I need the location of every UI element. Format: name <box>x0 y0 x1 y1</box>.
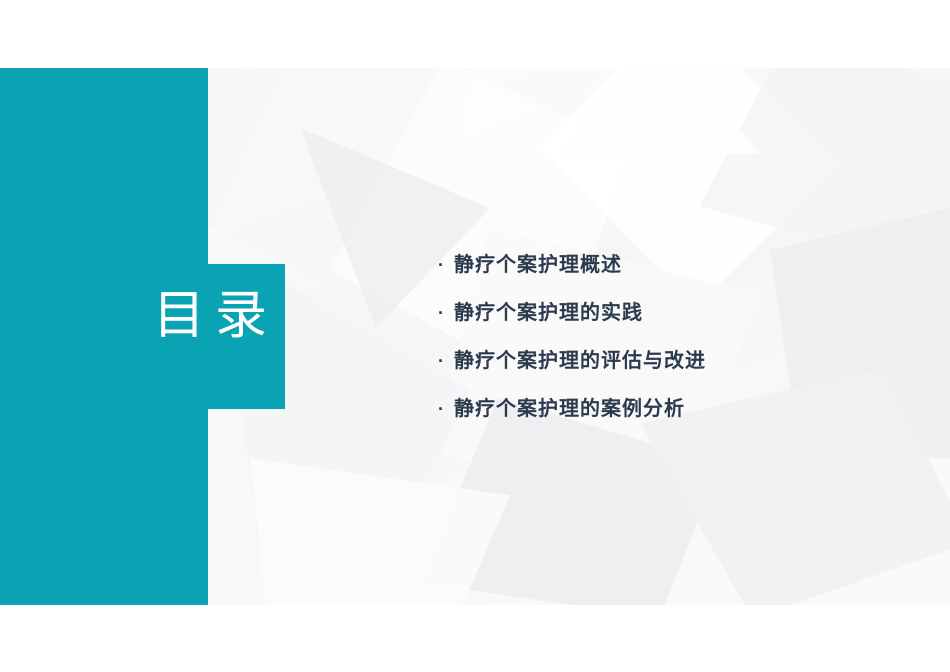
slide: 目录 · 静疗个案护理概述 · 静疗个案护理的实践 · 静疗个案护理的评估与改进… <box>0 0 950 672</box>
list-item[interactable]: · 静疗个案护理的实践 <box>438 296 706 344</box>
list-item-label: 静疗个案护理的实践 <box>454 296 643 325</box>
list-item-label: 静疗个案护理概述 <box>454 248 622 277</box>
page-title: 目录 <box>153 285 277 347</box>
bullet-icon: · <box>438 304 454 322</box>
list-item[interactable]: · 静疗个案护理的案例分析 <box>438 392 706 440</box>
bullet-icon: · <box>438 256 454 274</box>
list-item-label: 静疗个案护理的评估与改进 <box>454 344 706 373</box>
list-item[interactable]: · 静疗个案护理的评估与改进 <box>438 344 706 392</box>
list-item[interactable]: · 静疗个案护理概述 <box>438 248 706 296</box>
bullet-icon: · <box>438 352 454 370</box>
toc-list: · 静疗个案护理概述 · 静疗个案护理的实践 · 静疗个案护理的评估与改进 · … <box>438 248 706 440</box>
list-item-label: 静疗个案护理的案例分析 <box>454 392 685 421</box>
bullet-icon: · <box>438 400 454 418</box>
